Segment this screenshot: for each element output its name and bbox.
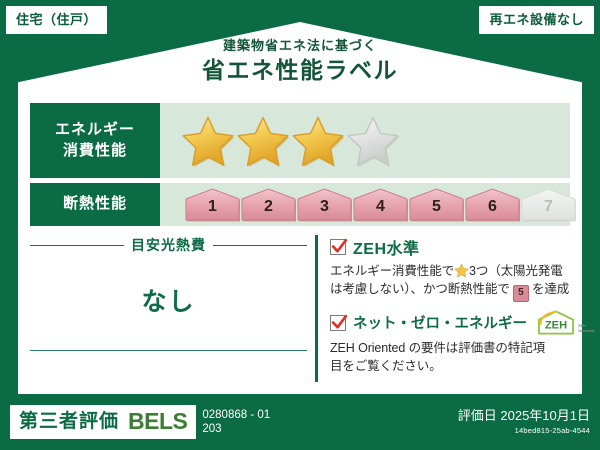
energy-label-line1: エネルギー <box>55 120 135 140</box>
utility-cost-value: なし <box>30 255 307 348</box>
zeh-mark-sub-line2: Oriented <box>578 328 594 333</box>
utility-cost-panel: 目安光熱費 なし <box>30 235 315 382</box>
energy-performance-label: エネルギー 消費性能 <box>30 103 160 178</box>
insulation-level-4: 4 <box>352 187 409 222</box>
zeh-standard-heading: ZEH水準 <box>330 235 594 259</box>
page-title: 省エネ性能ラベル <box>0 56 600 85</box>
insulation-level-number: 2 <box>264 199 273 222</box>
net-zero-title: ネット・ゼロ・エネルギー <box>353 312 527 333</box>
insulation-level-badge: 5 <box>513 285 528 302</box>
star-rating <box>182 115 399 167</box>
heading-rule-right <box>213 245 307 246</box>
zeh-desc-part3: を達成 <box>532 282 569 296</box>
net-zero-checkbox[interactable] <box>330 315 346 331</box>
bels-badge: 第三者評価 BELS <box>10 405 196 439</box>
zeh-standard-title: ZEH水準 <box>353 235 420 259</box>
zeh-desc-stars: 3つ（太陽光発電 <box>469 264 563 278</box>
star-filled-icon <box>292 115 344 167</box>
insulation-level-number: 4 <box>376 199 385 222</box>
content-panel: エネルギー 消費性能 断熱性能 1234567 目安光熱費 <box>30 103 570 382</box>
net-zero-description: ZEH Oriented の要件は評価書の特記項 目をご覧ください。 <box>330 339 594 375</box>
svg-text:ZEH: ZEH <box>545 320 567 332</box>
zeh-house-icon: ZEH <box>536 309 576 336</box>
zeh-mark-subtext: ZEH Oriented <box>578 324 594 336</box>
label-header: 建築物省エネ法に基づく 省エネ性能ラベル <box>0 38 600 84</box>
insulation-level-number: 1 <box>208 199 217 222</box>
insulation-level-7: 7 <box>520 187 577 222</box>
insulation-level-number: 3 <box>320 199 329 222</box>
insulation-level-6: 6 <box>464 187 521 222</box>
insulation-level-1: 1 <box>184 187 241 222</box>
utility-cost-underline <box>30 350 307 351</box>
zeh-standard-block: ZEH水準 エネルギー消費性能で 3つ（太陽光発電 は考慮しない）、かつ断熱性能… <box>330 235 594 302</box>
zeh-desc-part1: エネルギー消費性能で <box>330 264 454 278</box>
check-icon <box>330 313 349 332</box>
utility-cost-heading: 目安光熱費 <box>30 235 307 255</box>
third-party-evaluation-text: 第三者評価 <box>19 412 119 431</box>
insulation-performance-row: 断熱性能 1234567 <box>30 183 570 226</box>
insulation-level-number: 5 <box>432 199 441 222</box>
energy-rating-body <box>160 103 570 178</box>
zeh-mark-logo: ZEH ZEH Oriented <box>536 309 594 336</box>
utility-cost-heading-text: 目安光熱費 <box>131 235 206 255</box>
zeh-desc-part2: は考慮しない）、かつ断熱性能で <box>330 282 510 296</box>
heading-rule-left <box>30 245 124 246</box>
header-subtitle: 建築物省エネ法に基づく <box>0 38 600 54</box>
net-zero-desc-line2: 目をご覧ください。 <box>330 359 442 373</box>
lower-section: 目安光熱費 なし ZEH水準 <box>30 235 570 382</box>
evaluation-date: 評価日 2025年10月1日 <box>458 409 590 423</box>
zeh-panel: ZEH水準 エネルギー消費性能で 3つ（太陽光発電 は考慮しない）、かつ断熱性能… <box>315 235 594 382</box>
insulation-level-number: 6 <box>488 199 497 222</box>
insulation-level-3: 3 <box>296 187 353 222</box>
renewable-equipment-tag: 再エネ設備なし <box>479 6 594 34</box>
bels-logo-text: BELS <box>128 410 187 433</box>
label-footer: 第三者評価 BELS 0280868 - 01 203 評価日 2025年10月… <box>0 394 600 450</box>
insulation-rating-body: 1234567 <box>160 183 576 226</box>
star-filled-icon <box>237 115 289 167</box>
inline-star-icon <box>454 263 469 278</box>
registration-number: 0280868 - 01 203 <box>202 408 270 437</box>
insulation-performance-label: 断熱性能 <box>30 183 160 226</box>
energy-label-line2: 消費性能 <box>63 141 127 161</box>
footer-right-block: 評価日 2025年10月1日 14bed815-25ab-4544 <box>458 409 590 434</box>
net-zero-heading: ネット・ゼロ・エネルギー ZEH ZEH Oriented <box>330 309 594 336</box>
net-zero-desc-line1: ZEH Oriented の要件は評価書の特記項 <box>330 341 545 355</box>
label-uid: 14bed815-25ab-4544 <box>458 426 590 435</box>
insulation-label-line1: 断熱性能 <box>63 194 127 214</box>
check-icon <box>330 237 349 256</box>
zeh-standard-checkbox[interactable] <box>330 239 346 255</box>
insulation-level-scale: 1234567 <box>184 187 576 222</box>
energy-performance-row: エネルギー 消費性能 <box>30 103 570 178</box>
insulation-level-5: 5 <box>408 187 465 222</box>
insulation-level-2: 2 <box>240 187 297 222</box>
building-type-tag: 住宅（住戸） <box>6 6 107 34</box>
energy-label-card: 住宅（住戸） 再エネ設備なし 建築物省エネ法に基づく 省エネ性能ラベル エネルギ… <box>0 0 600 450</box>
insulation-level-number: 7 <box>544 199 553 222</box>
star-empty-icon <box>347 115 399 167</box>
zeh-standard-description: エネルギー消費性能で 3つ（太陽光発電 は考慮しない）、かつ断熱性能で 5 を達… <box>330 262 594 302</box>
star-filled-icon <box>182 115 234 167</box>
net-zero-energy-block: ネット・ゼロ・エネルギー ZEH ZEH Oriented <box>330 309 594 375</box>
